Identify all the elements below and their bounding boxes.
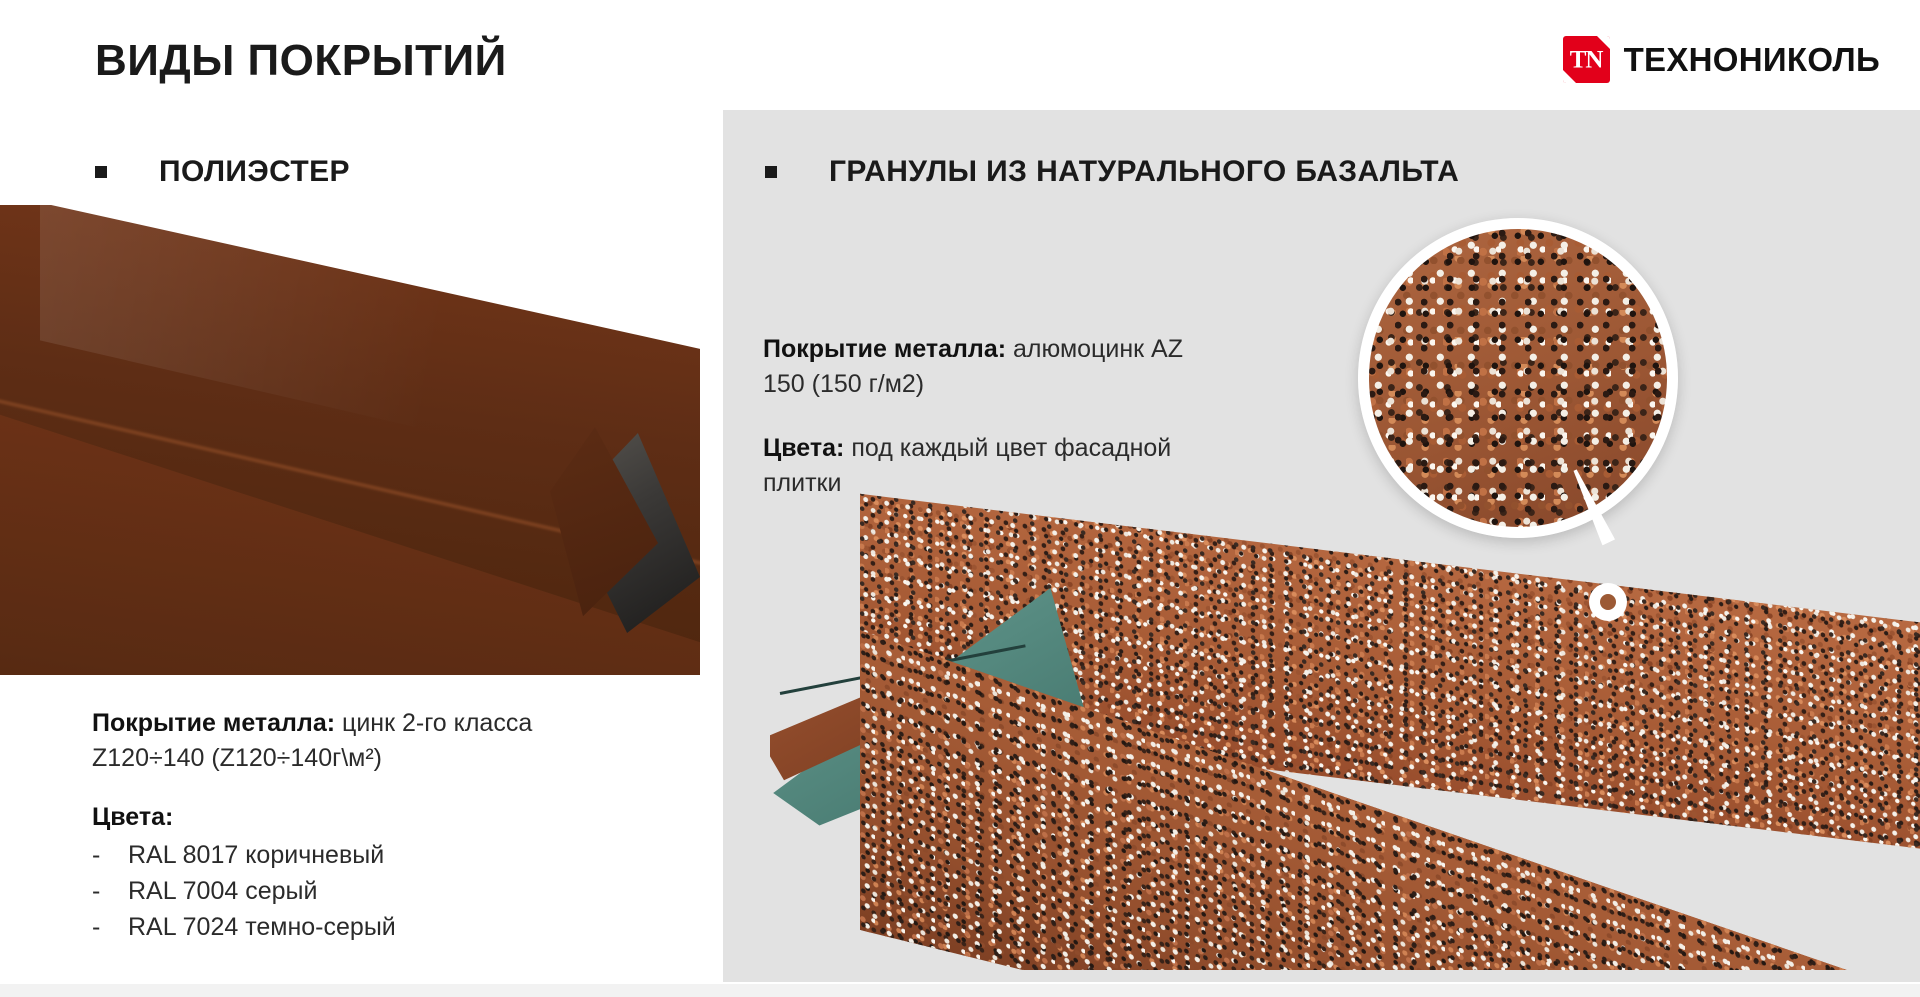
basalt-granule-closeup-circle [1358,218,1678,538]
left-colors-block: Цвета: - RAL 8017 коричневый - RAL 7004 … [92,800,592,945]
list-item-label: RAL 8017 коричневый [128,837,384,873]
left-colors-label: Цвета: [92,800,592,835]
left-spec-block: Покрытие металла: цинк 2-го класса Z120÷… [92,706,592,775]
list-item: - RAL 8017 коричневый [92,837,592,873]
bottom-strip [0,984,1920,997]
right-column-heading: ГРАНУЛЫ ИЗ НАТУРАЛЬНОГО БАЗАЛЬТА [765,155,1459,189]
page-title: ВИДЫ ПОКРЫТИЙ [95,36,507,86]
list-dash: - [92,909,128,945]
right-spec-label: Покрытие металла: [763,335,1006,363]
left-spec-label: Покрытие металла: [92,709,335,737]
basalt-granule-ridge-photo [770,470,1920,970]
left-column-heading: ПОЛИЭСТЕР [95,155,350,189]
right-column-heading-label: ГРАНУЛЫ ИЗ НАТУРАЛЬНОГО БАЗАЛЬТА [829,155,1459,189]
callout-pointer-dot [1589,583,1627,621]
brown-polyester-ridge-photo [0,205,700,675]
technonicol-logo: ТN ТЕХНОНИКОЛЬ [1563,36,1880,83]
slide-root: ВИДЫ ПОКРЫТИЙ ТN ТЕХНОНИКОЛЬ ПОЛИЭСТЕР П… [0,0,1920,997]
left-column-heading-label: ПОЛИЭСТЕР [159,155,350,189]
logo-brand-text: ТЕХНОНИКОЛЬ [1624,41,1880,79]
list-item: - RAL 7024 темно-серый [92,909,592,945]
square-bullet-icon [765,166,777,178]
list-item: - RAL 7004 серый [92,873,592,909]
right-spec-line: Покрытие металла: алюмоцинк AZ 150 (150 … [763,332,1223,401]
list-item-label: RAL 7024 темно-серый [128,909,396,945]
logo-mark-icon: ТN [1563,36,1610,83]
list-dash: - [92,837,128,873]
logo-monogram-text: ТN [1563,47,1610,72]
list-dash: - [92,873,128,909]
left-colors-list: - RAL 8017 коричневый - RAL 7004 серый -… [92,837,592,945]
list-item-label: RAL 7004 серый [128,873,317,909]
right-colors-label: Цвета: [763,434,844,462]
square-bullet-icon [95,166,107,178]
